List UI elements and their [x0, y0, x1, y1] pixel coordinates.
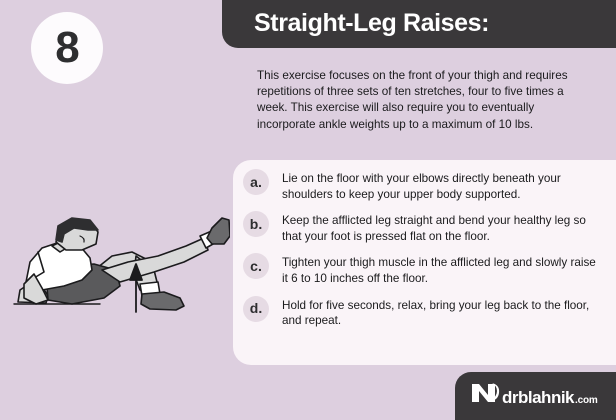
brand-tld-label: .com [575, 395, 598, 406]
list-item-text: Hold for five seconds, relax, bring your… [282, 295, 600, 329]
list-item: d. Hold for five seconds, relax, bring y… [243, 295, 616, 329]
step-number-value: 8 [55, 26, 78, 70]
list-item-marker: c. [243, 253, 269, 279]
list-item-marker-label: a. [250, 175, 262, 189]
list-item: a. Lie on the floor with your elbows dir… [243, 168, 616, 202]
steps-panel: a. Lie on the floor with your elbows dir… [233, 160, 616, 365]
list-item: b. Keep the afflicted leg straight and b… [243, 210, 616, 244]
list-item-text: Keep the afflicted leg straight and bend… [282, 210, 600, 244]
list-item-text: Tighten your thigh muscle in the afflict… [282, 252, 600, 286]
page-title: Straight-Leg Raises: [254, 9, 489, 38]
list-item-marker-label: c. [250, 259, 262, 273]
step-number-badge: 8 [31, 12, 103, 84]
intro-paragraph: This exercise focuses on the front of yo… [257, 68, 591, 133]
title-banner: Straight-Leg Raises: [222, 0, 616, 48]
list-item-marker-label: b. [250, 217, 262, 231]
brand-logo: drblahnik .com [471, 381, 598, 408]
list-item-marker: b. [243, 211, 269, 237]
exercise-infographic-page: 8 Straight-Leg Raises: This exercise foc… [0, 0, 616, 420]
n-logo-icon [471, 381, 501, 403]
list-item-marker-label: d. [250, 301, 262, 315]
footer-brand-bar: drblahnik .com [455, 372, 616, 420]
list-item-marker: a. [243, 169, 269, 195]
brand-name-label: drblahnik [502, 388, 574, 408]
person-straight-leg-raise-illustration [8, 212, 230, 342]
list-item-text: Lie on the floor with your elbows direct… [282, 168, 600, 202]
list-item-marker: d. [243, 296, 269, 322]
list-item: c. Tighten your thigh muscle in the affl… [243, 252, 616, 286]
